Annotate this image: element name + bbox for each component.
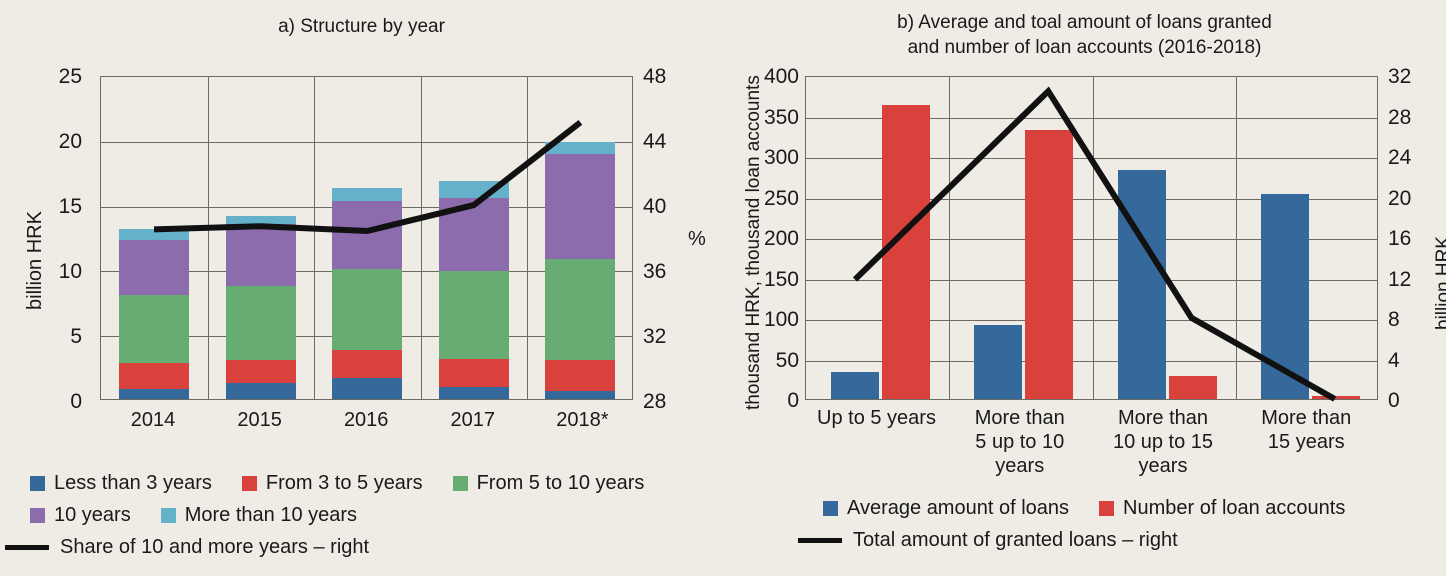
figure-root: a) Structure by year billion HRK % 25 20… [0, 0, 1446, 576]
chart-b-ytick: 100 [733, 309, 799, 330]
chart-a-ytick: 5 [20, 326, 82, 347]
legend-label: Share of 10 and more years – right [60, 536, 369, 558]
chart-b-ytick: 200 [733, 228, 799, 249]
chart-b-title-line-1: b) Average and toal amount of loans gran… [723, 10, 1446, 35]
chart-a-xtick: 2016 [331, 408, 401, 432]
chart-a-xtick: 2015 [225, 408, 295, 432]
chart-b-xtick-line: More than [948, 406, 1091, 430]
legend-swatch-icon [30, 508, 45, 523]
legend-label: From 5 to 10 years [477, 472, 645, 494]
chart-b-ytick: 300 [733, 147, 799, 168]
chart-b-y2tick: 20 [1388, 188, 1411, 209]
chart-b-title-line-2: and number of loan accounts (2016-2018) [723, 35, 1446, 60]
chart-a-ytick: 20 [20, 131, 82, 152]
chart-b-ytick: 0 [733, 390, 799, 411]
chart-b-xtick-line: Up to 5 years [805, 406, 948, 430]
chart-b-xtick: Up to 5 years [805, 406, 948, 430]
chart-b-ytick: 50 [733, 350, 799, 371]
legend-label: Average amount of loans [847, 497, 1069, 519]
chart-a-line-series [101, 77, 634, 401]
chart-a-y2tick: 32 [643, 326, 666, 347]
legend-swatch-icon [161, 508, 176, 523]
legend-item-from-5-to-10-years[interactable]: From 5 to 10 years [453, 472, 645, 494]
chart-b-y2tick: 0 [1388, 390, 1400, 411]
chart-b-xtick-line: years [1092, 454, 1235, 478]
legend-item-less-than-3-years[interactable]: Less than 3 years [30, 472, 212, 494]
chart-b-xtick: More than 10 up to 15 years [1092, 406, 1235, 478]
chart-b-xtick: More than 5 up to 10 years [948, 406, 1091, 478]
chart-b-ytick: 400 [733, 66, 799, 87]
chart-b-plot-area [805, 76, 1378, 400]
legend-label: Total amount of granted loans – right [853, 529, 1178, 551]
chart-b-y2tick: 12 [1388, 269, 1411, 290]
chart-a-y2-axis-title: % [688, 228, 706, 251]
chart-a-y2tick: 44 [643, 131, 666, 152]
chart-a-title: a) Structure by year [0, 14, 723, 39]
legend-label: 10 years [54, 504, 131, 526]
chart-b-y2tick: 16 [1388, 228, 1411, 249]
chart-a-xtick: 2018* [544, 408, 620, 432]
chart-a-y2tick: 28 [643, 391, 666, 412]
legend-item-total-amount-of-granted-loans[interactable]: Total amount of granted loans – right [798, 529, 1178, 551]
legend-line-icon [798, 538, 842, 543]
chart-a-ytick: 15 [20, 196, 82, 217]
legend-item-from-3-to-5-years[interactable]: From 3 to 5 years [242, 472, 423, 494]
legend-swatch-icon [453, 476, 468, 491]
chart-b-xtick-line: 15 years [1235, 430, 1378, 454]
chart-a-ytick: 10 [20, 261, 82, 282]
chart-b-xtick-line: 5 up to 10 [948, 430, 1091, 454]
legend-label: Less than 3 years [54, 472, 212, 494]
chart-panel-a: a) Structure by year billion HRK % 25 20… [0, 0, 723, 576]
chart-b-y2tick: 32 [1388, 66, 1411, 87]
chart-a-y2tick: 40 [643, 196, 666, 217]
legend-item-more-than-10-years[interactable]: More than 10 years [161, 504, 357, 526]
legend-label: More than 10 years [185, 504, 357, 526]
chart-a-ytick: 25 [20, 66, 82, 87]
legend-swatch-icon [30, 476, 45, 491]
legend-item-share-of-10-and-more-years[interactable]: Share of 10 and more years – right [5, 536, 369, 558]
legend-swatch-icon [823, 501, 838, 516]
chart-b-y2tick: 24 [1388, 147, 1411, 168]
chart-a-legend: Less than 3 years From 3 to 5 years From… [30, 472, 674, 558]
chart-panel-b: b) Average and toal amount of loans gran… [723, 0, 1446, 576]
chart-b-xtick-line: 10 up to 15 [1092, 430, 1235, 454]
chart-b-ytick: 150 [733, 269, 799, 290]
legend-item-10-years[interactable]: 10 years [30, 504, 131, 526]
chart-b-line-series [806, 77, 1379, 401]
chart-b-xtick-line: years [948, 454, 1091, 478]
chart-a-plot-area [100, 76, 633, 400]
chart-b-y2tick: 4 [1388, 350, 1400, 371]
chart-b-xtick: More than 15 years [1235, 406, 1378, 454]
chart-a-ytick: 0 [20, 391, 82, 412]
legend-item-number-of-loan-accounts[interactable]: Number of loan accounts [1099, 497, 1345, 519]
chart-b-y2tick: 8 [1388, 309, 1400, 330]
chart-b-y2tick: 28 [1388, 107, 1411, 128]
chart-a-y2tick: 36 [643, 261, 666, 282]
chart-a-xtick: 2017 [438, 408, 508, 432]
chart-b-legend: Average amount of loans Number of loan a… [823, 497, 1375, 551]
chart-b-ytick: 350 [733, 107, 799, 128]
chart-b-ytick: 250 [733, 188, 799, 209]
chart-b-xtick-line: More than [1235, 406, 1378, 430]
legend-item-average-amount-of-loans[interactable]: Average amount of loans [823, 497, 1069, 519]
legend-swatch-icon [242, 476, 257, 491]
legend-line-icon [5, 545, 49, 550]
chart-a-xtick: 2014 [118, 408, 188, 432]
legend-swatch-icon [1099, 501, 1114, 516]
chart-b-xtick-line: More than [1092, 406, 1235, 430]
chart-b-y2-axis-title: billion HRK [1433, 236, 1446, 330]
chart-a-y2tick: 48 [643, 66, 666, 87]
legend-label: From 3 to 5 years [266, 472, 423, 494]
legend-label: Number of loan accounts [1123, 497, 1345, 519]
